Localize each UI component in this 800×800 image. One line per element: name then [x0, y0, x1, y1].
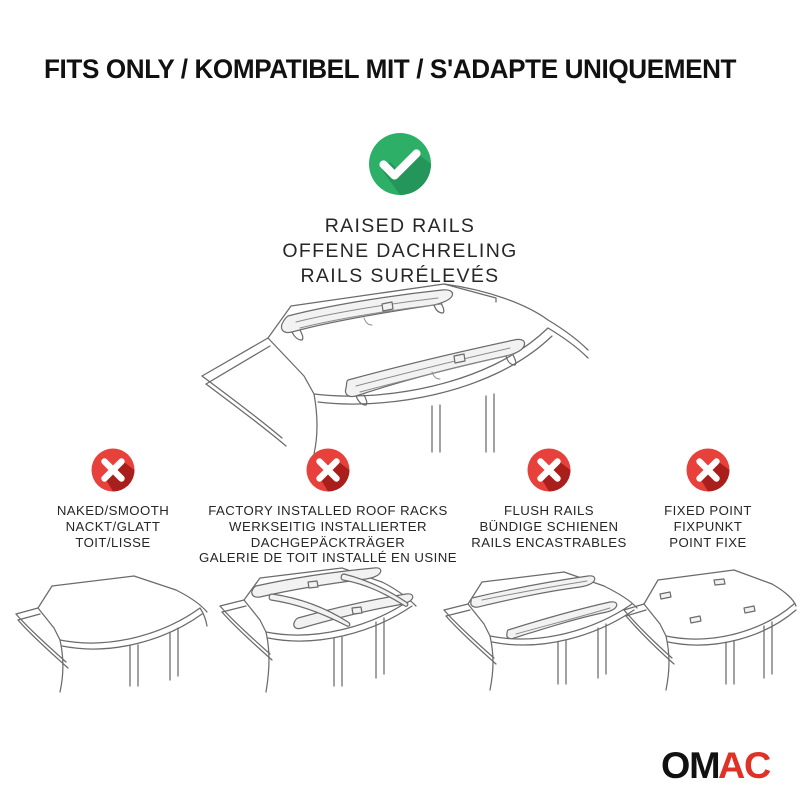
car-roof-factory-racks-illustration [216, 556, 430, 694]
compatibility-infographic: FITS ONLY / KOMPATIBEL MIT / S'ADAPTE UN… [0, 0, 800, 800]
label-line-fr: TOIT/LISSE [13, 535, 213, 551]
label-line-en: FACTORY INSTALLED ROOF RACKS [198, 503, 458, 519]
label-line-de: NACKT/GLATT [13, 519, 213, 535]
car-roof-fixed-point-illustration [622, 556, 798, 692]
label-line-fr: RAILS ENCASTRABLES [449, 535, 649, 551]
label-line-fr: POINT FIXE [628, 535, 788, 551]
red-x-circle-icon [91, 448, 135, 492]
label-line-de: FIXPUNKT [628, 519, 788, 535]
compatible-label-en: RAISED RAILS [0, 214, 800, 239]
label-line-en: FIXED POINT [628, 503, 788, 519]
label-line-de: BÜNDIGE SCHIENEN [449, 519, 649, 535]
compatible-section: RAISED RAILS OFFENE DACHRELING RAILS SUR… [0, 132, 800, 289]
incompatible-labels: NAKED/SMOOTH NACKT/GLATT TOIT/LISSE [13, 503, 213, 550]
label-line-en: FLUSH RAILS [449, 503, 649, 519]
car-roof-naked-smooth-illustration [14, 562, 210, 694]
incompatible-item-fixed-point: FIXED POINT FIXPUNKT POINT FIXE [628, 448, 788, 550]
label-line-en: NAKED/SMOOTH [13, 503, 213, 519]
car-roof-flush-rails-illustration [442, 558, 640, 692]
incompatible-item-naked-smooth: NAKED/SMOOTH NACKT/GLATT TOIT/LISSE [13, 448, 213, 550]
red-x-circle-icon [686, 448, 730, 492]
incompatible-labels: FLUSH RAILS BÜNDIGE SCHIENEN RAILS ENCAS… [449, 503, 649, 550]
logo-text-accent: AC [718, 747, 770, 784]
page-title: FITS ONLY / KOMPATIBEL MIT / S'ADAPTE UN… [44, 54, 763, 85]
compatible-label-de: OFFENE DACHRELING [0, 239, 800, 264]
car-roof-raised-rails-illustration [196, 276, 608, 456]
red-x-circle-icon [527, 448, 571, 492]
incompatible-item-factory-racks: FACTORY INSTALLED ROOF RACKS WERKSEITIG … [198, 448, 458, 566]
omac-logo: OM AC [661, 750, 769, 784]
red-x-circle-icon [306, 448, 350, 492]
green-check-circle-icon [368, 132, 432, 196]
logo-text-dark: OM [661, 747, 719, 784]
label-line-de-2: DACHGEPÄCKTRÄGER [198, 535, 458, 551]
incompatible-item-flush-rails: FLUSH RAILS BÜNDIGE SCHIENEN RAILS ENCAS… [449, 448, 649, 550]
label-line-de-1: WERKSEITIG INSTALLIERTER [198, 519, 458, 535]
incompatible-labels: FIXED POINT FIXPUNKT POINT FIXE [628, 503, 788, 550]
